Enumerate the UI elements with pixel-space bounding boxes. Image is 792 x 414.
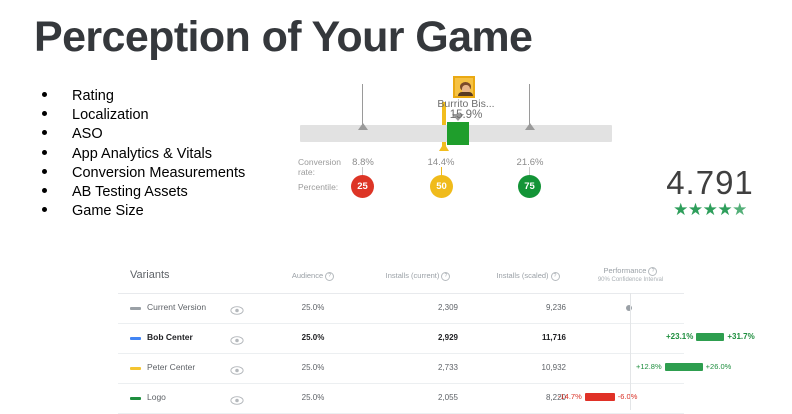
- variant-name: Bob Center: [147, 332, 193, 342]
- feature-bullet-list: RatingLocalizationASOApp Analytics & Vit…: [42, 87, 245, 221]
- table-row[interactable]: Logo25.0%2,0558,220-14.7%-6.0%: [118, 384, 684, 414]
- rating-block: 4.791 ★★★★★: [655, 165, 765, 219]
- up-arrow-icon-75: [525, 123, 535, 130]
- cell-installs-current: 2,309: [368, 303, 458, 312]
- variant-color-swatch: [130, 307, 141, 310]
- column-header-audience-label: Audience: [292, 271, 323, 280]
- column-header-installs-current: Installs (current)?: [368, 271, 468, 281]
- column-header-installs-current-label: Installs (current): [386, 271, 440, 280]
- column-header-variants: Variants: [130, 269, 170, 281]
- help-icon-performance[interactable]: ?: [648, 267, 657, 276]
- percentile-badge-50: 50: [430, 175, 453, 198]
- column-header-performance: Performance? 90% Confidence Interval: [578, 266, 683, 283]
- up-arrow-icon-50: [439, 143, 449, 151]
- cell-audience: 25.0%: [268, 303, 358, 312]
- bullet-dot-icon: [42, 150, 47, 155]
- cell-performance: [516, 294, 684, 323]
- column-header-audience: Audience?: [268, 271, 358, 281]
- rating-score: 4.791: [655, 165, 765, 201]
- app-conversion-value: 15.9%: [418, 109, 514, 121]
- app-position-marker: [447, 122, 469, 145]
- bullet-item: App Analytics & Vitals: [42, 145, 245, 164]
- bullet-item: Conversion Measurements: [42, 164, 245, 183]
- confidence-interval: +12.8%+26.0%: [636, 362, 731, 371]
- variant-color-swatch: [130, 337, 141, 340]
- cell-audience: 25.0%: [268, 393, 358, 402]
- app-icon: [453, 76, 475, 98]
- eye-icon[interactable]: [230, 333, 244, 344]
- eye-icon[interactable]: [230, 303, 244, 314]
- conversion-rate-label-line2: rate:: [298, 167, 315, 177]
- cell-audience: 25.0%: [268, 363, 358, 372]
- performance-zero-axis: [630, 293, 631, 410]
- bullet-item: Game Size: [42, 202, 245, 221]
- percentile-stem-75: [529, 84, 530, 128]
- eye-icon[interactable]: [230, 363, 244, 374]
- column-header-installs-scaled-label: Installs (scaled): [496, 271, 548, 280]
- ci-high-value: +31.7%: [727, 332, 754, 341]
- percentile-stem-25: [362, 84, 363, 128]
- table-body: Current Version25.0%2,3099,236Bob Center…: [118, 293, 684, 414]
- conversion-rate-value-75: 21.6%: [500, 157, 560, 168]
- ci-high-value: +26.0%: [706, 362, 732, 371]
- cell-installs-current: 2,055: [368, 393, 458, 402]
- ci-bar: [585, 393, 615, 401]
- column-header-performance-label: Performance: [604, 266, 647, 275]
- bullet-item-label: Rating: [72, 87, 114, 106]
- eye-icon[interactable]: [230, 393, 244, 404]
- column-header-performance-sub: 90% Confidence Interval: [578, 277, 683, 283]
- cell-performance: +12.8%+26.0%: [516, 354, 684, 383]
- help-icon-installs-current[interactable]: ?: [441, 272, 450, 281]
- bullet-dot-icon: [42, 188, 47, 193]
- bullet-item: Rating: [42, 87, 245, 106]
- bullet-item-label: ASO: [72, 125, 103, 144]
- table-row[interactable]: Bob Center25.0%2,92911,716+23.1%+31.7%: [118, 324, 684, 354]
- help-icon-installs-scaled[interactable]: ?: [551, 272, 560, 281]
- bullet-item-label: Conversion Measurements: [72, 164, 245, 183]
- bullet-item-label: App Analytics & Vitals: [72, 145, 212, 164]
- bullet-item: Localization: [42, 106, 245, 125]
- cell-performance: +23.1%+31.7%: [516, 324, 684, 353]
- table-row[interactable]: Peter Center25.0%2,73310,932+12.8%+26.0%: [118, 354, 684, 384]
- percentile-label: Percentile:: [298, 183, 338, 193]
- ci-bar: [696, 333, 724, 341]
- bullet-item: ASO: [42, 125, 245, 144]
- table-header-row: Variants Audience? Installs (current)? I…: [118, 265, 684, 293]
- slide-canvas: Perception of Your Game RatingLocalizati…: [0, 0, 792, 400]
- help-icon-audience[interactable]: ?: [325, 272, 334, 281]
- rating-stars: ★★★★★: [655, 201, 765, 219]
- bullet-item-label: Localization: [72, 106, 149, 125]
- variant-name: Peter Center: [147, 362, 195, 372]
- ci-low-value: +23.1%: [666, 332, 693, 341]
- ci-low-value: +12.8%: [636, 362, 662, 371]
- percentile-badge-75: 75: [518, 175, 541, 198]
- variant-color-swatch: [130, 367, 141, 370]
- bullet-dot-icon: [42, 92, 47, 97]
- bullet-item-label: AB Testing Assets: [72, 183, 188, 202]
- conversion-rate-widget: Burrito Bis... 15.9% Conversion rate: Pe…: [298, 85, 618, 210]
- table-row[interactable]: Current Version25.0%2,3099,236: [118, 294, 684, 324]
- column-header-installs-scaled: Installs (scaled)?: [478, 271, 578, 281]
- star-icons-full: ★★★★: [673, 200, 732, 219]
- variant-color-swatch: [130, 397, 141, 400]
- cell-audience: 25.0%: [268, 333, 358, 342]
- variants-table: Variants Audience? Installs (current)? I…: [118, 265, 684, 414]
- confidence-interval: +23.1%+31.7%: [666, 332, 755, 341]
- conversion-rate-value-25: 8.8%: [333, 157, 393, 168]
- bullet-dot-icon: [42, 169, 47, 174]
- bullet-dot-icon: [42, 207, 47, 212]
- up-arrow-icon-25: [358, 123, 368, 130]
- cell-performance: -14.7%-6.0%: [516, 384, 684, 413]
- bullet-item-label: Game Size: [72, 202, 144, 221]
- bullet-item: AB Testing Assets: [42, 183, 245, 202]
- percentile-badge-25: 25: [351, 175, 374, 198]
- variant-name: Logo: [147, 392, 166, 402]
- cell-installs-current: 2,929: [368, 333, 458, 342]
- baseline-marker: [626, 305, 632, 311]
- ci-bar: [665, 363, 703, 371]
- cell-installs-current: 2,733: [368, 363, 458, 372]
- page-title: Perception of Your Game: [34, 13, 532, 62]
- bullet-dot-icon: [42, 130, 47, 135]
- star-icon-half: ★: [732, 200, 747, 219]
- variant-name: Current Version: [147, 302, 206, 312]
- bullet-dot-icon: [42, 111, 47, 116]
